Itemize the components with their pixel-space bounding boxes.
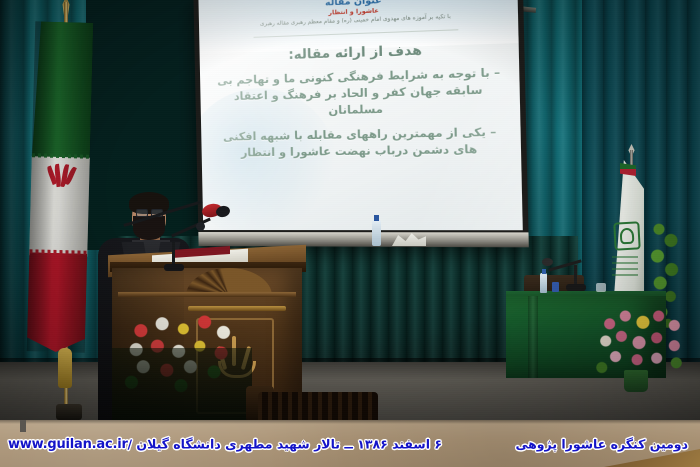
table-microphone-head-icon: [542, 258, 553, 266]
table-flower-arrangement: [592, 302, 690, 380]
flag-tassel: [58, 348, 72, 388]
table-water-bottle: [540, 273, 547, 293]
conference-photo: عنوان مقاله عاشورا و انتظار با تکیه بر آ…: [0, 0, 700, 467]
screen-bottom-bar: [198, 232, 528, 247]
caption-event-title: دومین کنگره عاشورا پژوهی: [515, 436, 688, 451]
podium-flower-shadow: [112, 348, 252, 420]
presentation-slide: عنوان مقاله عاشورا و انتظار با تکیه بر آ…: [198, 0, 522, 230]
caption-wood-corner: [604, 449, 700, 467]
table-flower-vase: [624, 370, 648, 392]
podium-water-bottle: [372, 220, 381, 246]
podium-foot-overlap: [20, 420, 26, 432]
flag-stand-base: [56, 404, 82, 420]
university-emblem-icon: [613, 221, 640, 250]
caption-website-url[interactable]: www.guilan.ac.ir: [8, 436, 128, 452]
hall-scene: عنوان مقاله عاشورا و انتظار با تکیه بر آ…: [0, 0, 700, 420]
table-glass: [596, 283, 606, 292]
projection-screen: عنوان مقاله عاشورا و انتظار با تکیه بر آ…: [196, 0, 508, 246]
podium-microphone-joint: [196, 222, 205, 231]
podium-pediment-band: [118, 292, 296, 297]
screen-frame: عنوان مقاله عاشورا و انتظار با تکیه بر آ…: [193, 0, 528, 247]
table-microphone-base: [566, 284, 586, 291]
website-url-text[interactable]: www.guilan.ac.ir: [8, 437, 128, 452]
slide-bullet-2: – یکی از مهمترین راههای مقابله با شبهه ا…: [217, 124, 503, 161]
slide-bullet-1: – با توجه به شرایط فرهنگی کنونی ما و تها…: [216, 65, 502, 122]
iran-flag-shading: [27, 21, 94, 352]
university-flag-text-block: [612, 256, 638, 276]
caption-date-venue: ۶ اسفند ۱۳۸۶ ــ تالار شهید مطهری دانشگاه…: [128, 436, 443, 451]
caption-top-shadow: [0, 420, 700, 424]
foreground-chair-row: [258, 392, 378, 420]
table-blue-cup: [552, 282, 559, 292]
caption-bar: دومین کنگره عاشورا پژوهی ۶ اسفند ۱۳۸۶ ــ…: [0, 420, 700, 467]
screen-surface: عنوان مقاله عاشورا و انتظار با تکیه بر آ…: [198, 0, 522, 230]
podium-microphone-base: [164, 264, 184, 271]
curtain-left-shadow: [0, 0, 30, 420]
